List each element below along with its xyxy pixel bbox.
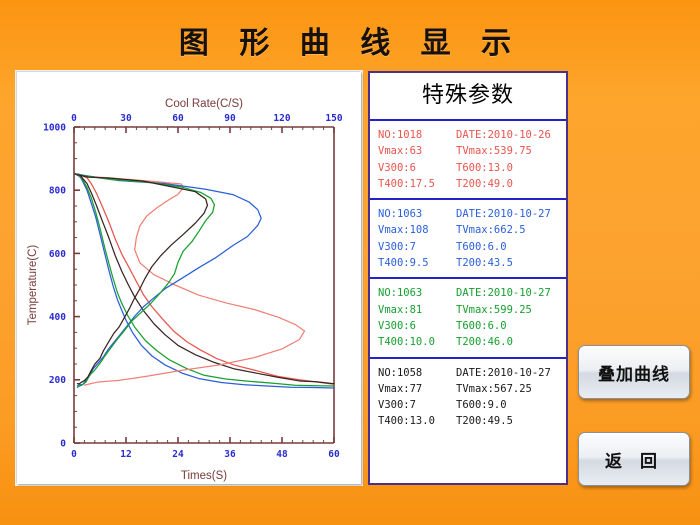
params-cell-left: V300:6 xyxy=(378,160,456,176)
params-cell-left: Vmax:63 xyxy=(378,143,456,159)
svg-text:0: 0 xyxy=(71,113,77,124)
svg-text:0: 0 xyxy=(71,449,77,460)
params-row: NO:1063DATE:2010-10-27 xyxy=(378,206,566,222)
svg-text:48: 48 xyxy=(276,449,288,460)
params-block: NO:1063DATE:2010-10-27Vmax:81TVmax:599.2… xyxy=(370,279,566,358)
params-cell-left: T400:17.5 xyxy=(378,176,456,192)
params-row: V300:7T600:9.0 xyxy=(378,397,566,413)
svg-text:12: 12 xyxy=(120,449,131,460)
app-window: 图 形 曲 线 显 示 01224364860Times(S)030609012… xyxy=(0,0,700,525)
params-cell-left: Vmax:77 xyxy=(378,381,456,397)
params-row: Vmax:77TVmax:567.25 xyxy=(378,381,566,397)
special-parameters-panel: 特殊参数 NO:1018DATE:2010-10-26Vmax:63TVmax:… xyxy=(368,71,568,485)
params-cell-left: V300:6 xyxy=(378,318,456,334)
svg-text:60: 60 xyxy=(172,113,184,124)
params-row: V300:6T600:6.0 xyxy=(378,318,566,334)
params-row: Vmax:81TVmax:599.25 xyxy=(378,302,566,318)
back-button[interactable]: 返 回 xyxy=(578,432,690,486)
chart-series-0 xyxy=(75,174,334,384)
params-cell-right: T200:49.5 xyxy=(456,413,513,429)
params-cell-left: NO:1058 xyxy=(378,365,456,381)
params-cell-right: T200:49.0 xyxy=(456,176,513,192)
overlay-curves-button[interactable]: 叠加曲线 xyxy=(578,345,690,399)
params-row: T400:10.0T200:46.0 xyxy=(378,334,566,350)
svg-text:Times(S): Times(S) xyxy=(181,470,227,482)
params-cell-right: T200:43.5 xyxy=(456,255,513,271)
params-cell-left: Vmax:108 xyxy=(378,222,456,238)
params-block: NO:1058DATE:2010-10-27Vmax:77TVmax:567.2… xyxy=(370,359,566,436)
svg-text:1000: 1000 xyxy=(43,122,66,133)
svg-text:0: 0 xyxy=(60,438,66,449)
params-cell-left: V300:7 xyxy=(378,239,456,255)
chart-panel: 01224364860Times(S)0306090120150Cool Rat… xyxy=(17,72,361,484)
params-cell-right: T600:13.0 xyxy=(456,160,513,176)
params-row: V300:6T600:13.0 xyxy=(378,160,566,176)
svg-text:30: 30 xyxy=(120,113,132,124)
params-row: Vmax:108TVmax:662.5 xyxy=(378,222,566,238)
params-cell-left: V300:7 xyxy=(378,397,456,413)
svg-text:Temperature(C): Temperature(C) xyxy=(27,245,39,326)
params-cell-right: TVmax:567.25 xyxy=(456,381,532,397)
params-cell-right: TVmax:539.75 xyxy=(456,143,532,159)
params-row: Vmax:63TVmax:539.75 xyxy=(378,143,566,159)
params-cell-right: TVmax:662.5 xyxy=(456,222,526,238)
svg-text:600: 600 xyxy=(49,249,66,260)
svg-text:400: 400 xyxy=(49,312,66,323)
params-cell-right: DATE:2010-10-27 xyxy=(456,365,551,381)
params-row: NO:1058DATE:2010-10-27 xyxy=(378,365,566,381)
params-cell-right: T600:6.0 xyxy=(456,318,507,334)
svg-text:120: 120 xyxy=(273,113,290,124)
params-panel-title: 特殊参数 xyxy=(370,73,566,121)
params-cell-right: DATE:2010-10-26 xyxy=(456,127,551,143)
params-cell-right: TVmax:599.25 xyxy=(456,302,532,318)
params-cell-right: T600:9.0 xyxy=(456,397,507,413)
params-row: T400:9.5T200:43.5 xyxy=(378,255,566,271)
params-row: T400:17.5T200:49.0 xyxy=(378,176,566,192)
svg-text:Cool Rate(C/S): Cool Rate(C/S) xyxy=(165,98,243,110)
curve-chart: 01224364860Times(S)0306090120150Cool Rat… xyxy=(18,73,362,485)
params-cell-left: T400:9.5 xyxy=(378,255,456,271)
svg-text:24: 24 xyxy=(172,449,184,460)
svg-text:36: 36 xyxy=(224,449,236,460)
params-cell-left: Vmax:81 xyxy=(378,302,456,318)
params-cell-left: T400:13.0 xyxy=(378,413,456,429)
params-row: T400:13.0T200:49.5 xyxy=(378,413,566,429)
svg-text:60: 60 xyxy=(328,449,340,460)
svg-text:800: 800 xyxy=(49,186,66,197)
params-row: NO:1063DATE:2010-10-27 xyxy=(378,285,566,301)
params-row: V300:7T600:6.0 xyxy=(378,239,566,255)
params-block: NO:1063DATE:2010-10-27Vmax:108TVmax:662.… xyxy=(370,200,566,279)
params-cell-left: NO:1063 xyxy=(378,206,456,222)
params-cell-right: DATE:2010-10-27 xyxy=(456,206,551,222)
svg-text:150: 150 xyxy=(325,113,342,124)
params-row: NO:1018DATE:2010-10-26 xyxy=(378,127,566,143)
params-cell-right: T200:46.0 xyxy=(456,334,513,350)
chart-series-2 xyxy=(75,174,334,386)
params-block: NO:1018DATE:2010-10-26Vmax:63TVmax:539.7… xyxy=(370,121,566,200)
params-cell-left: T400:10.0 xyxy=(378,334,456,350)
page-title: 图 形 曲 线 显 示 xyxy=(0,18,700,62)
params-cell-right: T600:6.0 xyxy=(456,239,507,255)
svg-text:200: 200 xyxy=(49,375,66,386)
params-cell-right: DATE:2010-10-27 xyxy=(456,285,551,301)
params-cell-left: NO:1018 xyxy=(378,127,456,143)
params-cell-left: NO:1063 xyxy=(378,285,456,301)
svg-text:90: 90 xyxy=(224,113,236,124)
params-block-list: NO:1018DATE:2010-10-26Vmax:63TVmax:539.7… xyxy=(370,121,566,436)
